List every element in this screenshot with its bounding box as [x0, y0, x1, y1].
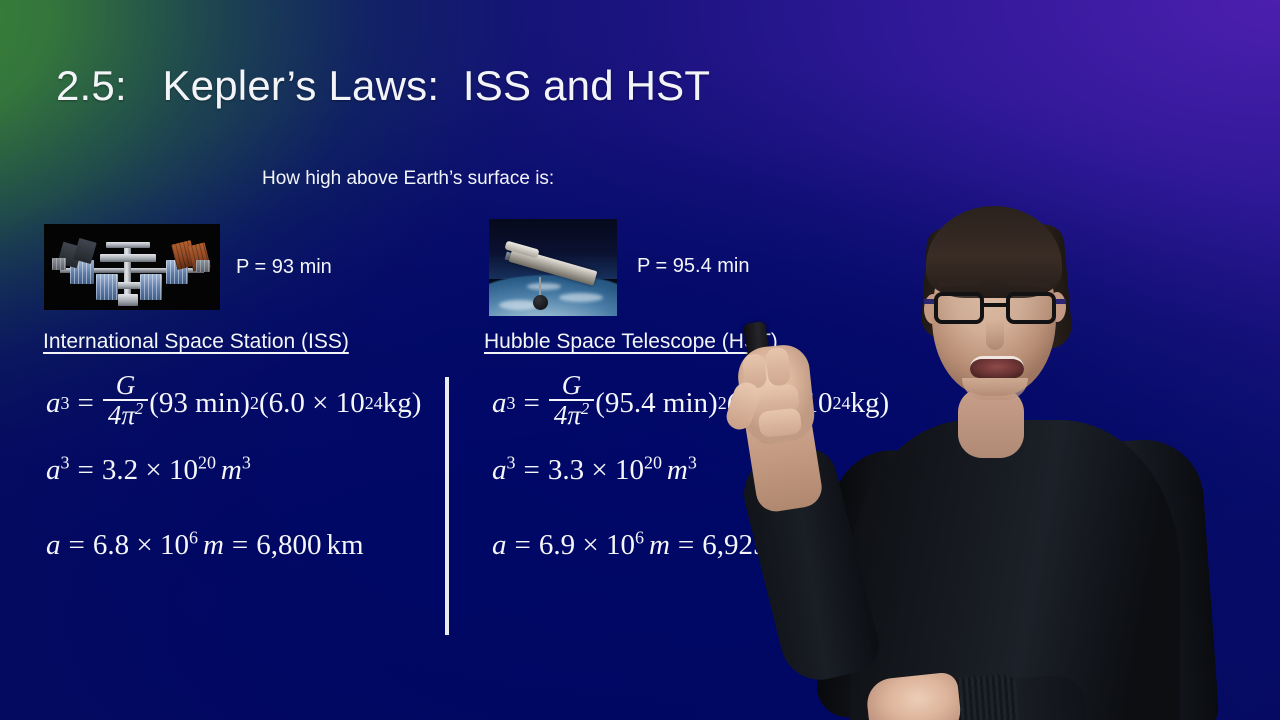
eq-result: 6,800: [256, 529, 321, 561]
eq-lhs: a: [46, 389, 61, 418]
iss-photo: [44, 224, 220, 310]
eq-unit-exponent: 3: [242, 452, 251, 472]
slide-question: How high above Earth’s surface is:: [262, 168, 554, 190]
eq-unit-exponent: 3: [688, 452, 697, 472]
eq-result: 6,925: [702, 529, 767, 561]
eq-term1-close: ): [240, 389, 250, 418]
eq-term1-close: ): [708, 389, 718, 418]
iss-solar-panel-2: [96, 274, 118, 300]
eq-fraction-numerator: G: [557, 371, 587, 399]
eq-value: 3.3 × 10: [548, 454, 644, 486]
eq-lhs: a: [492, 389, 507, 418]
eq-result-unit: km: [773, 529, 810, 561]
lecture-slide: 2.5: Kepler’s Laws: ISS and HST How high…: [0, 0, 1280, 720]
eq-fraction-denominator: 4π2: [103, 401, 148, 431]
hst-antenna-dish: [533, 295, 548, 310]
hst-caption: Hubble Space Telescope (HST): [484, 330, 778, 354]
column-divider: [445, 377, 449, 635]
slide-title: 2.5: Kepler’s Laws: ISS and HST: [56, 62, 710, 110]
eq-term2-close: ): [879, 389, 889, 418]
eq-term2-unit: kg: [383, 389, 412, 418]
eq-term2-close: ): [412, 389, 422, 418]
hst-equation-line-2: a3=3.3 × 1020m3: [492, 456, 889, 485]
iss-module-upper: [100, 254, 156, 262]
eq-term2-value: 6.0 × 10: [269, 389, 365, 418]
eq-fraction: G4π2: [103, 371, 148, 431]
eq-equals: =: [523, 389, 539, 418]
iss-caption: International Space Station (ISS): [43, 330, 349, 354]
hst-antenna-mast: [539, 277, 541, 297]
eq-term2-open: (: [259, 389, 269, 418]
iss-module-top: [106, 242, 150, 248]
hst-equation-line-3: a=6.9 × 106m=6,925km: [492, 531, 889, 560]
iss-module-bottom: [118, 294, 138, 306]
hst-cloud-3: [527, 283, 561, 290]
eq-exponent: 6: [635, 527, 644, 547]
iss-radiator-right: [196, 260, 210, 272]
eq-unit: m: [221, 454, 242, 486]
eq-fraction-denominator: 4π2: [549, 401, 594, 431]
iss-equation-line-3: a=6.8 × 106m=6,800km: [46, 531, 421, 560]
eq-term1-value: 93 min: [159, 389, 240, 418]
eq-term2-value: 6.0 × 10: [736, 389, 832, 418]
eq-fraction-numerator: G: [111, 371, 141, 399]
iss-radiator-left: [52, 258, 66, 270]
iss-illustration: [44, 224, 220, 310]
eq-term1-open: (: [595, 389, 605, 418]
iss-equation-line-2: a3=3.2 × 1020m3: [46, 456, 421, 485]
hst-period-label: P = 95.4 min: [637, 255, 749, 278]
hst-equation-column: a3=G4π2(95.4 min)2(6.0 × 1024kg) a3=3.3 …: [492, 372, 889, 560]
eq-term1-value: 95.4 min: [605, 389, 708, 418]
eq-value: 6.9 × 10: [539, 529, 635, 561]
eq-exponent: 20: [644, 452, 662, 472]
hst-photo: [489, 219, 617, 316]
eq-unit: m: [203, 529, 224, 561]
eq-equals: =: [77, 389, 93, 418]
eq-exponent: 6: [189, 527, 198, 547]
eq-exponent: 20: [198, 452, 216, 472]
eq-unit: m: [667, 454, 688, 486]
eq-result-unit: km: [327, 529, 364, 561]
hst-equation-line-1: a3=G4π2(95.4 min)2(6.0 × 1024kg): [492, 372, 889, 434]
eq-term1-open: (: [149, 389, 159, 418]
hst-cloud-2: [559, 293, 603, 302]
eq-term2-unit: kg: [850, 389, 879, 418]
iss-period-label: P = 93 min: [236, 256, 332, 279]
iss-equation-line-1: a3=G4π2(93 min)2(6.0 × 1024kg): [46, 372, 421, 434]
eq-fraction: G4π2: [549, 371, 594, 431]
iss-solar-panel-3: [140, 274, 162, 300]
eq-value: 3.2 × 10: [102, 454, 198, 486]
eq-term2-open: (: [727, 389, 737, 418]
iss-equation-column: a3=G4π2(93 min)2(6.0 × 1024kg) a3=3.2 × …: [46, 372, 421, 560]
eq-value: 6.8 × 10: [93, 529, 189, 561]
eq-unit: m: [649, 529, 670, 561]
